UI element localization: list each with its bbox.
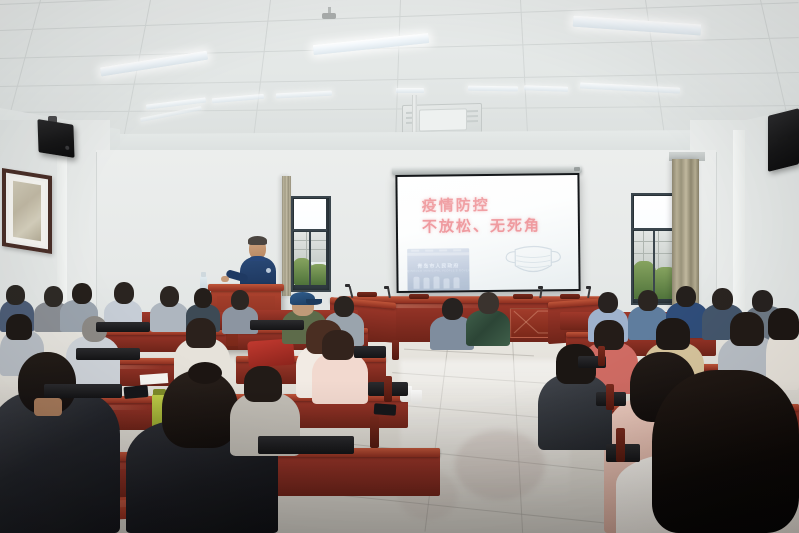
rostrum-microphone (345, 284, 350, 287)
bench-seat-back (44, 384, 122, 398)
curtain-left (282, 176, 291, 296)
rostrum-nameplate (560, 294, 580, 299)
wall-pillar-right (733, 130, 745, 330)
bench-leg (606, 384, 614, 410)
conference-room-photo: 疫情防控 不放松、无死角 青岛市人民政府 QINGDAO MUNICIPAL P… (0, 0, 799, 533)
audience-person (322, 330, 354, 360)
audience-person (72, 283, 92, 304)
ceiling-light-7 (396, 88, 424, 93)
projection-screen[interactable]: 疫情防控 不放松、无死角 青岛市人民政府 QINGDAO MUNICIPAL P… (395, 173, 580, 293)
notebook[interactable] (140, 373, 169, 385)
audience-person (334, 296, 354, 317)
bench-seat-back (76, 348, 140, 360)
audience-person (538, 374, 612, 450)
audience-person-plaid (466, 310, 510, 346)
slide-inset-photo: 青岛市人民政府 QINGDAO MUNICIPAL PEOPLE'S GOVER… (407, 248, 469, 291)
bench-leg (392, 340, 399, 360)
window-left (291, 196, 331, 292)
bench-leg (370, 416, 379, 448)
bench-leg (616, 428, 625, 462)
audience-person (114, 282, 134, 304)
face-mask-icon (502, 237, 564, 282)
audience-person-plaid (478, 292, 499, 314)
floor-reflection (455, 430, 545, 500)
audience-person-hair (652, 370, 799, 533)
paper-cup[interactable] (411, 390, 422, 404)
bench-seat-back (96, 322, 150, 332)
slide-title: 疫情防控 (422, 194, 490, 216)
presenter-hair (248, 236, 267, 245)
rostrum-nameplate (409, 294, 429, 299)
audience-person (160, 286, 179, 307)
presenter-hand (221, 276, 229, 282)
audience-person (730, 312, 764, 346)
projector-mount-pole (412, 95, 417, 138)
rostrum-nameplate (357, 292, 377, 297)
audience-person (194, 288, 212, 308)
bench-seat-back (354, 346, 386, 358)
bench-leg (384, 376, 392, 402)
audience-person (231, 290, 249, 310)
audience-person (598, 292, 618, 313)
audience-person (676, 286, 696, 307)
slide-subtitle: 不放松、无死角 (422, 214, 541, 236)
audience-person (752, 290, 773, 312)
bench-leg (598, 346, 605, 366)
audience-person (442, 298, 463, 320)
presenter-collar (250, 256, 265, 261)
audience-person (6, 285, 25, 305)
ceiling-light-8 (468, 86, 518, 92)
audience-person (186, 318, 216, 348)
wall-speaker-left (37, 119, 74, 158)
presenter-logo (266, 268, 271, 273)
bench-seat-back (258, 436, 354, 454)
audience-person (638, 290, 658, 311)
inset-photo-subline: QINGDAO MUNICIPAL PEOPLE'S GOVERNMENT (407, 269, 469, 273)
audience-person (712, 288, 733, 310)
framed-artwork (2, 168, 52, 254)
smartphone[interactable] (374, 403, 397, 416)
fire-sprinkler-icon (322, 7, 336, 20)
audience-person (768, 308, 799, 340)
audience-person (656, 318, 690, 350)
rostrum-microphone (586, 286, 591, 289)
audience-person (244, 366, 282, 402)
smartphone[interactable] (124, 385, 149, 399)
audience-person (44, 286, 63, 307)
rostrum-microphone (384, 286, 389, 289)
wall-speaker-right (768, 108, 799, 172)
audience-person-bun (188, 362, 222, 384)
baseball-cap-brim (306, 299, 322, 305)
bench-seat-back (250, 320, 304, 330)
rostrum-nameplate (513, 294, 533, 299)
audience-person (6, 314, 32, 340)
water-bottle-cap (201, 272, 206, 277)
audience-person-neck (34, 398, 62, 416)
rostrum-microphone (538, 286, 543, 289)
